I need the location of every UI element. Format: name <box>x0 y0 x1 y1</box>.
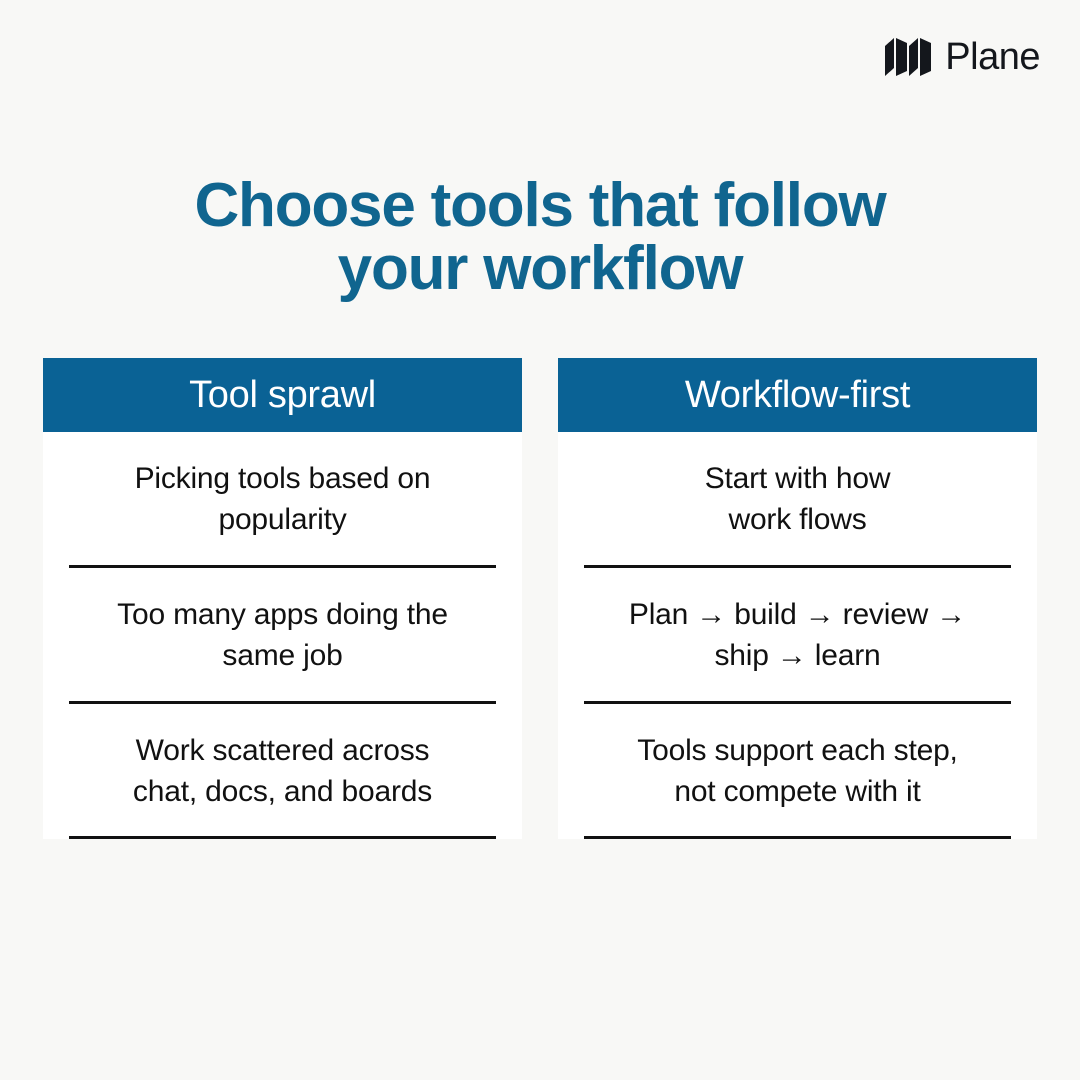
card-body-tool-sprawl: Picking tools based on popularity Too ma… <box>43 432 522 839</box>
row-line-2: ship → learn <box>586 635 1009 676</box>
table-row: Tools support each step, not compete wit… <box>584 704 1011 840</box>
row-line-1: Work scattered across <box>71 730 494 771</box>
table-row: Plan → build → review → ship → learn <box>584 568 1011 704</box>
comparison-card-workflow-first: Workflow-first Start with how work flows… <box>558 358 1037 839</box>
row-line-1: Too many apps doing the <box>71 594 494 635</box>
page-title-line-2: your workflow <box>90 237 990 300</box>
table-row: Start with how work flows <box>584 432 1011 568</box>
row-line-1: Start with how <box>586 458 1009 499</box>
table-row: Work scattered across chat, docs, and bo… <box>69 704 496 840</box>
brand-lockup: Plane <box>885 38 1040 76</box>
brand-name: Plane <box>945 38 1040 76</box>
row-line-2: popularity <box>71 499 494 540</box>
comparison-cards: Tool sprawl Picking tools based on popul… <box>43 358 1037 839</box>
page-title: Choose tools that follow your workflow <box>0 174 1080 300</box>
row-line-1: Plan → build → review → <box>586 594 1009 635</box>
row-line-2: same job <box>71 635 494 676</box>
card-header-tool-sprawl: Tool sprawl <box>43 358 522 432</box>
row-line-1: Picking tools based on <box>71 458 494 499</box>
row-line-1: Tools support each step, <box>586 730 1009 771</box>
card-body-workflow-first: Start with how work flows Plan → build →… <box>558 432 1037 839</box>
card-header-workflow-first: Workflow-first <box>558 358 1037 432</box>
row-line-2: not compete with it <box>586 771 1009 812</box>
table-row: Picking tools based on popularity <box>69 432 496 568</box>
plane-logo-icon <box>885 38 931 76</box>
row-line-2: work flows <box>586 499 1009 540</box>
comparison-card-tool-sprawl: Tool sprawl Picking tools based on popul… <box>43 358 522 839</box>
row-line-2: chat, docs, and boards <box>71 771 494 812</box>
page-title-line-1: Choose tools that follow <box>90 174 990 237</box>
table-row: Too many apps doing the same job <box>69 568 496 704</box>
